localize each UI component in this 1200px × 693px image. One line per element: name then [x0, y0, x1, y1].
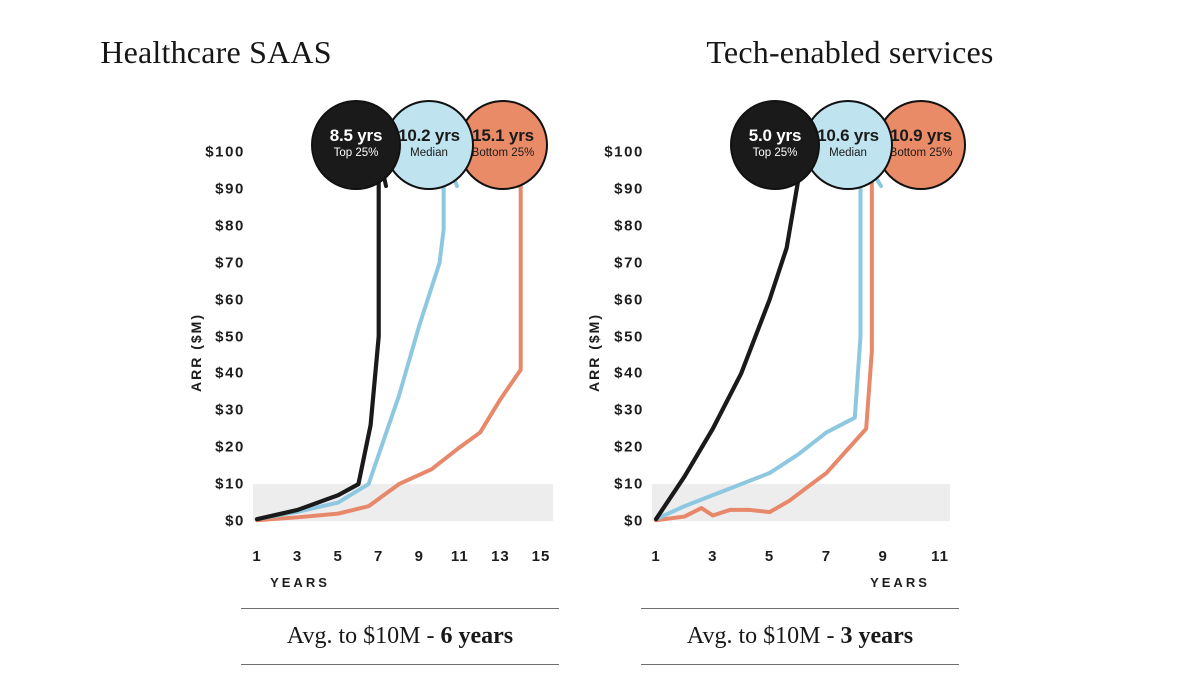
y-axis-tick-label: $50 — [600, 328, 644, 345]
footer-left: Avg. to $10M - 6 years — [241, 608, 559, 665]
panel-tech-enabled-services: Tech-enabled services $100$90$80$70$60$5… — [600, 0, 1200, 693]
x-axis-tick-label: 3 — [293, 548, 302, 565]
y-axis-title-right: ARR ($M) — [586, 313, 602, 392]
y-axis-tick-label: $100 — [0, 144, 245, 161]
footer-rule-bottom-right — [641, 664, 959, 665]
bubble-label: Median — [410, 145, 448, 162]
bubble-callout[interactable]: 5.0 yrsTop 25% — [730, 100, 820, 190]
series-line — [656, 152, 798, 519]
x-axis-title-right: YEARS — [600, 575, 1200, 590]
bubble-value: 8.5 yrs — [330, 127, 382, 145]
x-axis-tick-label: 7 — [374, 548, 383, 565]
series-line — [257, 152, 521, 520]
panel-healthcare-saas: Healthcare SAAS $100$90$80$70$60$50$40$3… — [0, 0, 600, 693]
footer-rule-bottom-left — [241, 664, 559, 665]
x-axis-title-right-text: YEARS — [870, 575, 930, 590]
bubble-value: 10.2 yrs — [398, 127, 460, 145]
series-line — [257, 152, 379, 519]
bubble-label: Median — [829, 145, 867, 162]
y-axis-tick-label: $0 — [0, 513, 245, 530]
bubble-label: Top 25% — [334, 145, 379, 162]
y-axis-tick-label: $80 — [0, 217, 245, 234]
bubble-label: Bottom 25% — [472, 145, 535, 162]
x-axis-tick-label: 1 — [651, 548, 660, 565]
footer-bold-right: 3 years — [840, 623, 913, 649]
x-axis-tick-label: 13 — [491, 548, 510, 565]
x-axis-tick-label: 11 — [451, 548, 469, 565]
footer-text-left: Avg. to $10M - 6 years — [241, 609, 559, 664]
y-axis-tick-label: $30 — [600, 402, 644, 419]
y-axis-tick-label: $90 — [0, 180, 245, 197]
x-axis-tick-label: 11 — [931, 548, 949, 565]
bubble-label: Top 25% — [753, 145, 798, 162]
x-axis-tick-label: 5 — [333, 548, 342, 565]
y-axis-tick-label: $0 — [600, 513, 644, 530]
y-axis-tick-label: $90 — [600, 180, 644, 197]
bubble-value: 15.1 yrs — [472, 127, 534, 145]
y-axis-tick-label: $20 — [0, 439, 245, 456]
series-line — [257, 152, 444, 519]
y-axis-tick-label: $10 — [0, 476, 245, 493]
bubble-value: 10.6 yrs — [817, 127, 879, 145]
y-axis-tick-label: $20 — [600, 439, 644, 456]
y-axis-tick-label: $100 — [600, 144, 644, 161]
x-axis-tick-label: 9 — [879, 548, 888, 565]
footer-text-right: Avg. to $10M - 3 years — [641, 609, 959, 664]
x-axis-tick-label: 3 — [708, 548, 717, 565]
bubble-label: Bottom 25% — [890, 145, 953, 162]
y-axis-tick-label: $40 — [600, 365, 644, 382]
footer-right: Avg. to $10M - 3 years — [641, 608, 959, 665]
x-axis-title-left-text: YEARS — [270, 575, 330, 590]
series-line — [656, 152, 860, 519]
y-axis-tick-label: $40 — [0, 365, 245, 382]
y-axis-tick-label: $30 — [0, 402, 245, 419]
series-line — [656, 152, 872, 520]
footer-prefix-right: Avg. to $10M - — [687, 623, 841, 649]
x-axis-tick-label: 1 — [252, 548, 261, 565]
x-axis-tick-label: 7 — [822, 548, 831, 565]
y-axis-tick-label: $80 — [600, 217, 644, 234]
y-axis-tick-label: $60 — [0, 291, 245, 308]
y-axis-tick-label: $60 — [600, 291, 644, 308]
x-axis-tick-label: 5 — [765, 548, 774, 565]
y-axis-tick-label: $70 — [0, 254, 245, 271]
x-axis-tick-label: 9 — [415, 548, 424, 565]
y-axis-tick-label: $50 — [0, 328, 245, 345]
bubble-callout[interactable]: 8.5 yrsTop 25% — [311, 100, 401, 190]
y-axis-title-left: ARR ($M) — [188, 313, 204, 392]
x-axis-title-left: YEARS — [0, 575, 600, 590]
y-axis-tick-label: $10 — [600, 476, 644, 493]
bubble-value: 10.9 yrs — [890, 127, 952, 145]
x-axis-tick-label: 15 — [532, 548, 551, 565]
y-axis-tick-label: $70 — [600, 254, 644, 271]
bubble-value: 5.0 yrs — [749, 127, 801, 145]
footer-bold-left: 6 years — [440, 623, 513, 649]
footer-prefix-left: Avg. to $10M - — [287, 623, 441, 649]
